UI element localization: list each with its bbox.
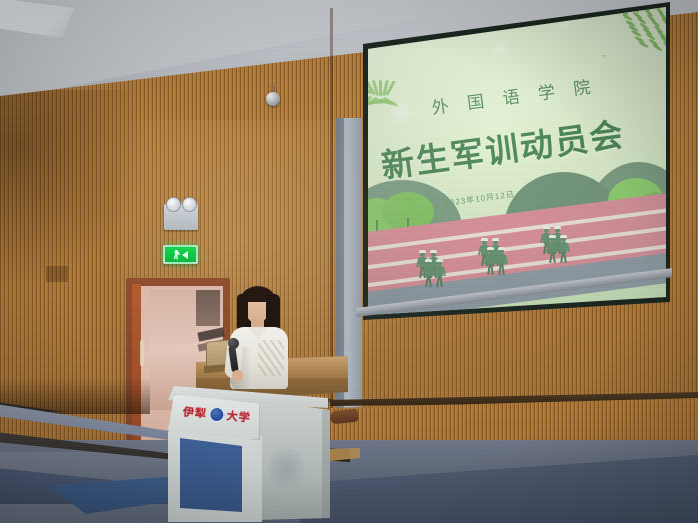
exit-sign	[163, 245, 198, 264]
wall-corner-seam	[330, 8, 333, 408]
podium-speaker-grille	[268, 444, 304, 492]
emergency-light-icon	[164, 204, 198, 230]
university-seal-icon	[208, 406, 225, 423]
photo-scene: ᵥᵥ 外 国 语 学 院 新生军训动员会 2023年10月12日	[0, 0, 698, 523]
wall-plate	[46, 266, 68, 282]
slide-marching-figure	[497, 247, 506, 275]
podium-right-edge	[322, 410, 330, 518]
podium-logo-text-right: 大学	[226, 407, 251, 425]
ceiling-sensor-icon	[266, 92, 280, 106]
door-interior-shadow	[196, 290, 220, 326]
door-handle[interactable]	[140, 340, 144, 366]
podium[interactable]: 伊犁 大学	[168, 386, 328, 520]
speaker-hand	[232, 370, 243, 381]
running-man-icon	[173, 250, 180, 260]
emergency-lamp-right	[182, 197, 197, 212]
slide-marching-figure	[486, 247, 495, 275]
exit-arrow-icon	[182, 251, 188, 259]
slide-willow-leaf	[652, 43, 663, 52]
slide-marching-figure	[548, 235, 557, 263]
slide-marching-figure	[559, 235, 568, 263]
slide-bokeh	[388, 100, 414, 126]
slide-willow-leaf	[638, 41, 649, 49]
speaker-person	[228, 286, 294, 396]
slide-marching-figure	[424, 259, 433, 287]
projection-screen[interactable]: ᵥᵥ 外 国 语 学 院 新生军训动员会 2023年10月12日	[352, 2, 670, 320]
slide-birds: ᵥᵥ	[602, 52, 607, 59]
slide-canvas: ᵥᵥ 外 国 语 学 院 新生军训动员会 2023年10月12日	[352, 2, 670, 320]
slide-bokeh	[490, 38, 510, 58]
podium-blue-panel	[180, 438, 242, 512]
emergency-lamp-left	[166, 197, 181, 212]
speaker-shirt-pattern	[258, 340, 284, 376]
exit-sign-face	[165, 247, 196, 262]
slide-marching-figure	[435, 259, 444, 287]
podium-logo-text-left: 伊犁	[182, 403, 207, 421]
